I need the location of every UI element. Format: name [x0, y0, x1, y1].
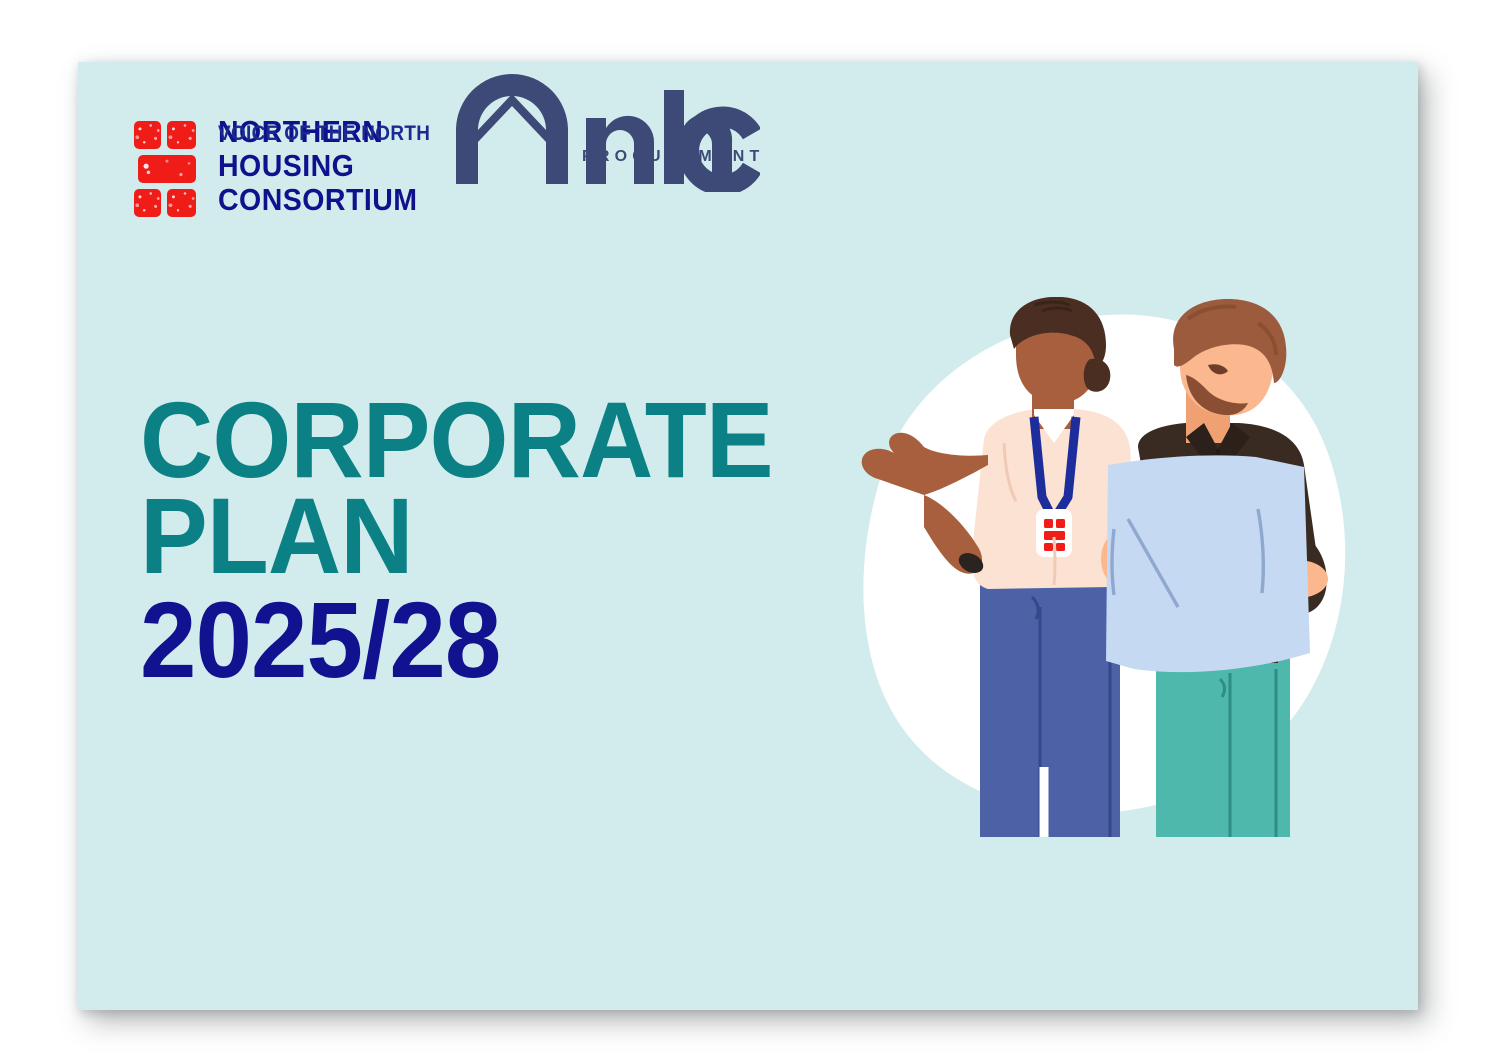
cover-slide: NORTHERN HOUSING CONSORTIUM VOICE OF THE…: [78, 62, 1418, 1010]
two-people-with-plans-illustration: [838, 297, 1378, 837]
nhc-procurement-logo: PROCUREMENT: [450, 72, 760, 192]
brick-top-left: [134, 121, 161, 149]
nhc-word-line-3: CONSORTIUM: [218, 184, 417, 215]
nhc-tagline: VOICE OF THE NORTH: [218, 123, 430, 144]
nhc-word-line-2: HOUSING: [218, 150, 417, 181]
page-title: CORPORATE PLAN 2025/28: [140, 392, 813, 688]
procurement-label: PROCUREMENT: [582, 148, 765, 166]
nhc-arch-icon: [456, 74, 568, 184]
brick-top-right: [167, 121, 196, 149]
nhc-brick-logo-icon: [134, 121, 196, 221]
site-plan-paper: [1106, 455, 1310, 672]
nhc-brand-lockup: NORTHERN HOUSING CONSORTIUM VOICE OF THE…: [134, 116, 454, 246]
title-line-years: 2025/28: [140, 592, 773, 688]
brick-bottom-left: [134, 189, 161, 217]
brick-bottom-right: [167, 189, 196, 217]
brick-middle: [138, 155, 196, 183]
title-line-corporate: CORPORATE: [140, 392, 773, 488]
title-line-plan: PLAN: [140, 488, 773, 584]
